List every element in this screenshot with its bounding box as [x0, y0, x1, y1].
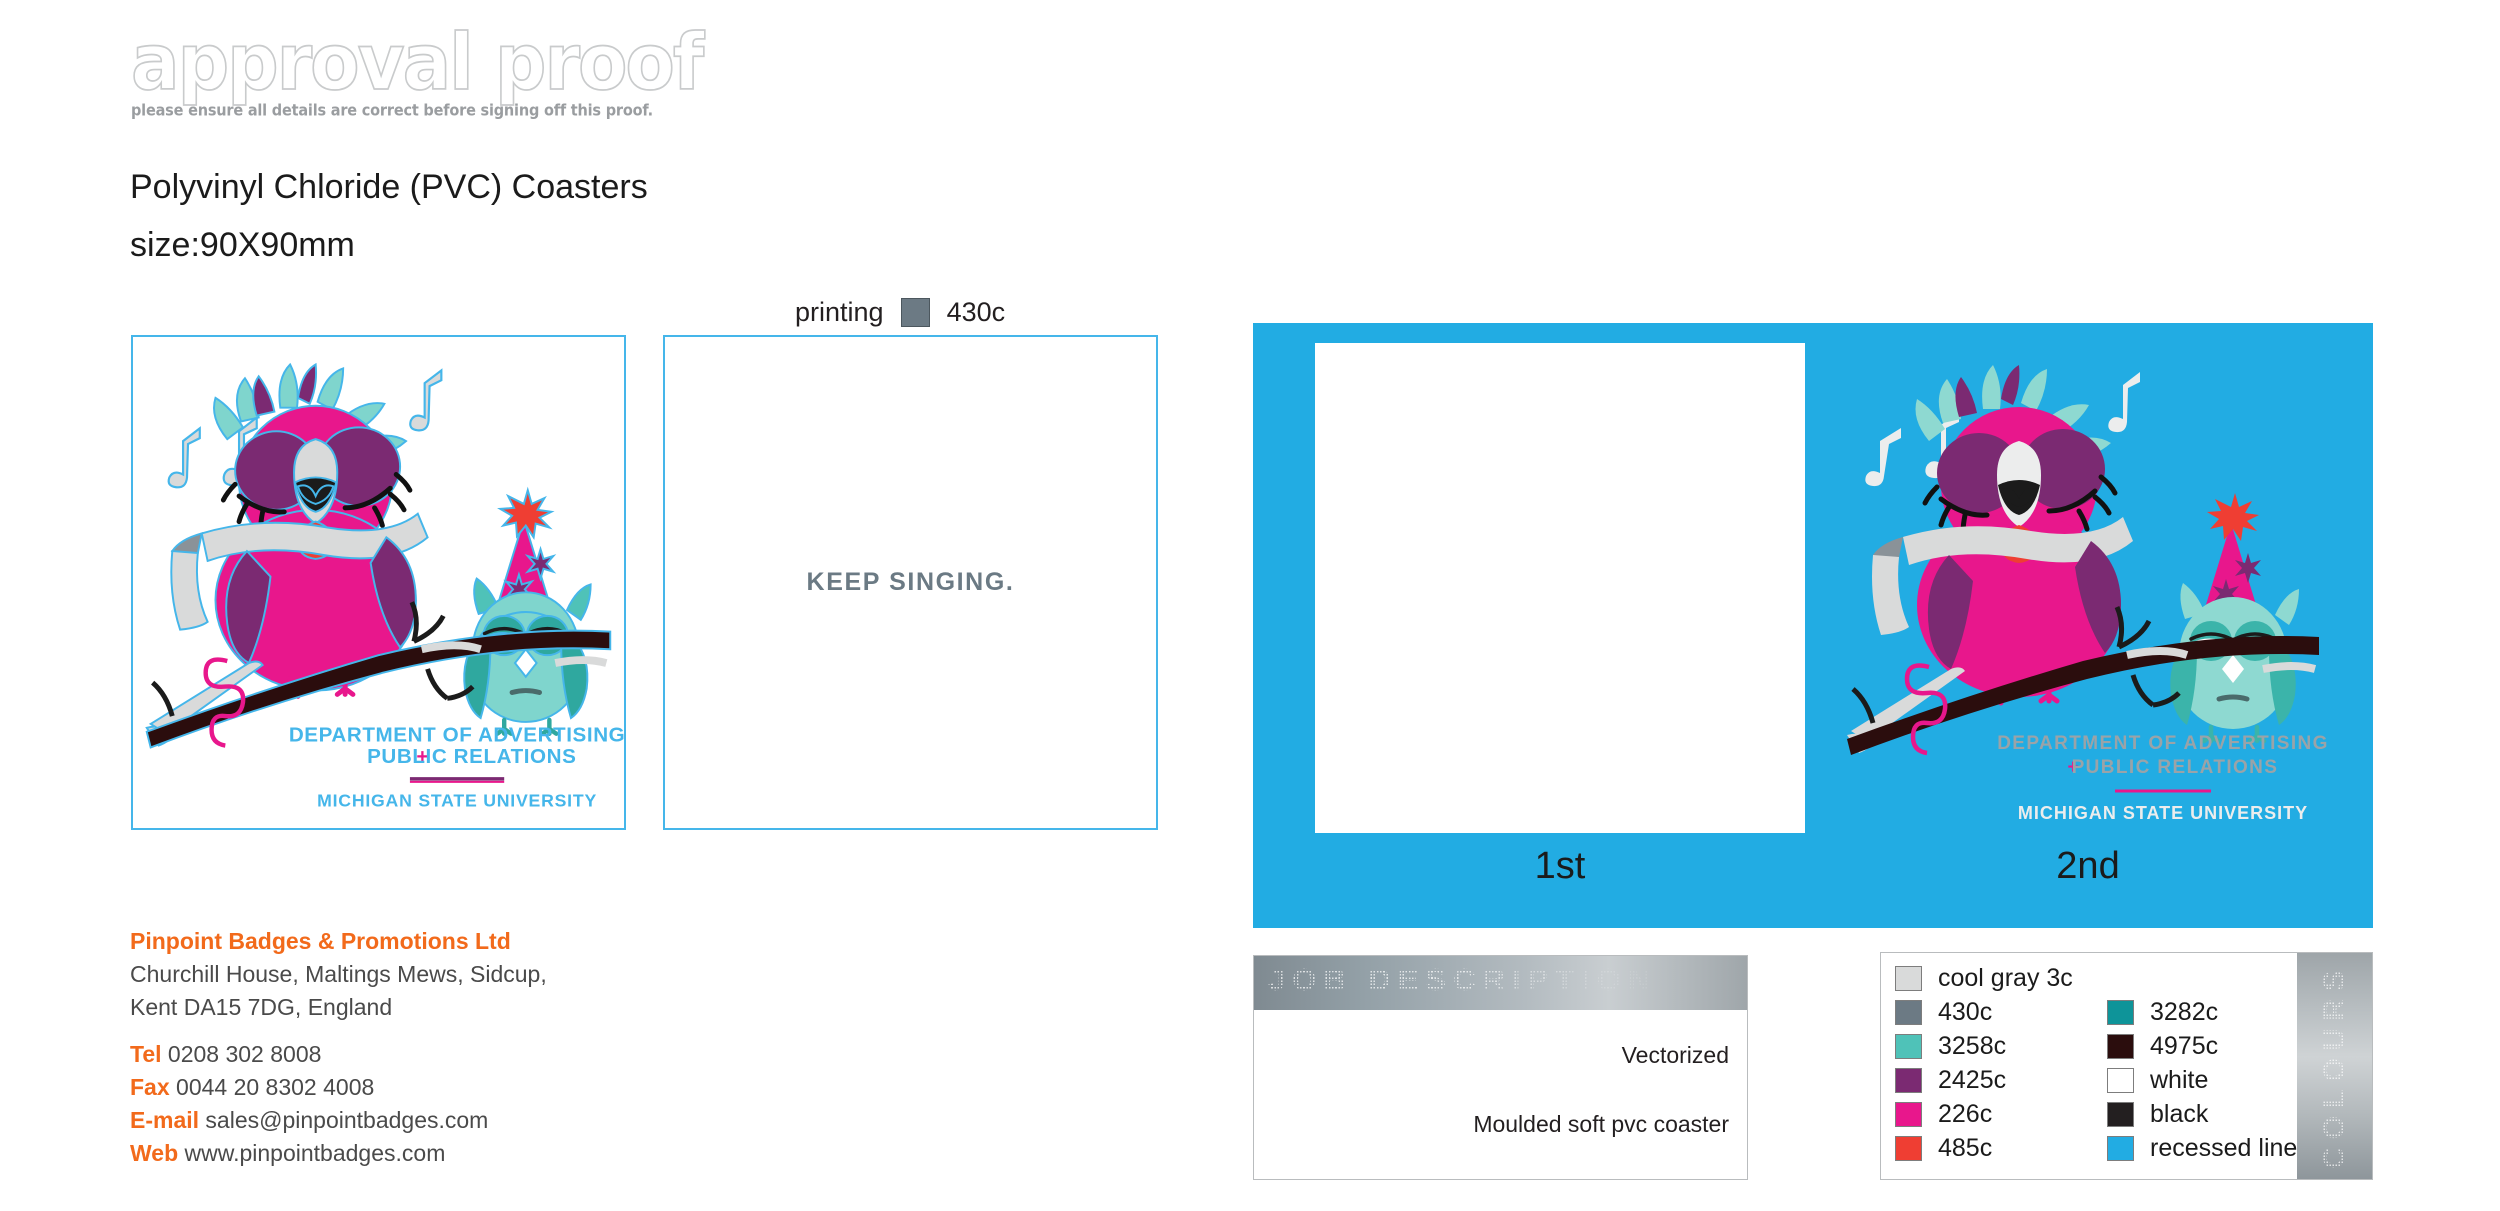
contact-fax-key: Fax: [130, 1074, 170, 1100]
pink-singing-owl: [1872, 365, 2133, 703]
approval-proof-subline: please ensure all details are correct be…: [131, 102, 691, 120]
job-description-line-1: Vectorized: [1254, 1042, 1747, 1069]
printing-label: printing: [795, 297, 884, 328]
colour-swatch: [1895, 1000, 1922, 1025]
colours-side-tab-text: COLOURS: [2318, 963, 2352, 1169]
approval-proof-wordmark: approval proof: [131, 22, 691, 102]
owls-artwork-blue: DEPARTMENT OF ADVERTISING + PUBLIC RELAT…: [1823, 343, 2353, 833]
colour-row: 485c: [1895, 1131, 2107, 1165]
colour-swatch: [1895, 966, 1922, 991]
colour-swatch: [2107, 1068, 2134, 1093]
colour-row: 226c: [1895, 1097, 2107, 1131]
colour-swatch: [1895, 1068, 1922, 1093]
colour-row: recessed line: [2107, 1131, 2297, 1165]
artwork-preview-panel[interactable]: DEPARTMENT OF ADVERTISING + PUBLIC RELAT…: [131, 335, 626, 830]
colours-list: cool gray 3c 430c 3258c 2425c 226c 485c: [1881, 953, 2297, 1179]
owls-artwork-white: DEPARTMENT OF ADVERTISING + PUBLIC RELAT…: [133, 337, 624, 828]
colour-swatch: [1895, 1034, 1922, 1059]
mockup-second-side[interactable]: DEPARTMENT OF ADVERTISING + PUBLIC RELAT…: [1823, 343, 2353, 833]
colour-name: 2425c: [1938, 1066, 2006, 1095]
colour-name: white: [2150, 1066, 2208, 1095]
mockup-board[interactable]: DEPARTMENT OF ADVERTISING + PUBLIC RELAT…: [1253, 323, 2373, 928]
company-name: Pinpoint Badges & Promotions Ltd: [130, 925, 547, 958]
colour-swatch: [1895, 1102, 1922, 1127]
contact-web-row[interactable]: Web www.pinpointbadges.com: [130, 1137, 547, 1170]
teal-party-owl: [464, 490, 590, 734]
colour-name: 226c: [1938, 1100, 1992, 1129]
company-address-line-2: Kent DA15 7DG, England: [130, 991, 547, 1024]
artwork-logo-line3: MICHIGAN STATE UNIVERSITY: [317, 790, 597, 810]
contact-tel-row: Tel 0208 302 8008: [130, 1038, 547, 1071]
contact-tel-value: 0208 302 8008: [168, 1041, 322, 1067]
colour-row: 4975c: [2107, 1029, 2297, 1063]
approval-proof-header: approval proof please ensure all details…: [131, 22, 691, 132]
mockup-label-second: 2nd: [1823, 845, 2353, 888]
contact-web-value[interactable]: www.pinpointbadges.com: [185, 1140, 446, 1166]
teal-party-owl: [2170, 493, 2299, 741]
colour-swatch: [2107, 1034, 2134, 1059]
colour-name: 485c: [1938, 1134, 1992, 1163]
colour-row: cool gray 3c: [1895, 961, 2107, 995]
colours-side-tab: COLOURS: [2297, 953, 2372, 1179]
colour-row: black: [2107, 1097, 2297, 1131]
colour-row: white: [2107, 1063, 2297, 1097]
colour-swatch: [2107, 1000, 2134, 1025]
printing-color-code: 430c: [947, 297, 1006, 328]
pink-singing-owl: [171, 364, 427, 696]
colours-column-left: cool gray 3c 430c 3258c 2425c 226c 485c: [1895, 961, 2107, 1179]
job-description-box: JOB DESCRIPTION Vectorized Moulded soft …: [1253, 955, 1748, 1180]
job-description-header-bar: JOB DESCRIPTION: [1254, 956, 1747, 1010]
colour-row: 3258c: [1895, 1029, 2107, 1063]
job-description-line-2: Moulded soft pvc coaster: [1254, 1111, 1747, 1138]
colour-name: 3282c: [2150, 998, 2218, 1027]
job-size-text: size:90X90mm: [130, 226, 355, 265]
printing-color-swatch: [901, 298, 930, 327]
colour-name: black: [2150, 1100, 2208, 1129]
colour-swatch: [2107, 1136, 2134, 1161]
text-preview-panel[interactable]: KEEP SINGING.: [663, 335, 1158, 830]
contact-email-value[interactable]: sales@pinpointbadges.com: [205, 1107, 488, 1133]
colour-row: 2425c: [1895, 1063, 2107, 1097]
mockup-label-first: 1st: [1315, 845, 1805, 888]
contact-email-key: E-mail: [130, 1107, 199, 1133]
contact-email-row[interactable]: E-mail sales@pinpointbadges.com: [130, 1104, 547, 1137]
colour-name: 4975c: [2150, 1032, 2218, 1061]
colour-name: recessed line: [2150, 1134, 2297, 1163]
keep-singing-text: KEEP SINGING.: [665, 337, 1156, 828]
company-address-line-1: Churchill House, Maltings Mews, Sidcup,: [130, 958, 547, 991]
artwork-logo-line1: DEPARTMENT OF ADVERTISING: [289, 724, 624, 747]
contact-tel-key: Tel: [130, 1041, 162, 1067]
artwork-logo-line1: DEPARTMENT OF ADVERTISING: [1997, 733, 2329, 754]
page-title: Polyvinyl Chloride (PVC) Coasters: [130, 168, 648, 207]
job-description-header-text: JOB DESCRIPTION: [1268, 962, 1657, 998]
colours-column-right: 3282c 4975c white black recessed line: [2107, 961, 2297, 1179]
printing-spec-row: printing 430c: [795, 297, 1005, 328]
contact-web-key: Web: [130, 1140, 178, 1166]
colour-name: 430c: [1938, 998, 1992, 1027]
artwork-logo-line3: MICHIGAN STATE UNIVERSITY: [2018, 803, 2308, 823]
artwork-logo-lockup: DEPARTMENT OF ADVERTISING + PUBLIC RELAT…: [1997, 733, 2329, 823]
colour-row: 3282c: [2107, 995, 2297, 1029]
colour-name: cool gray 3c: [1938, 964, 2073, 993]
colour-name: 3258c: [1938, 1032, 2006, 1061]
contact-block: Pinpoint Badges & Promotions Ltd Churchi…: [130, 925, 547, 1170]
colour-swatch: [1895, 1136, 1922, 1161]
contact-fax-value: 0044 20 8302 4008: [176, 1074, 374, 1100]
artwork-logo-line2: PUBLIC RELATIONS: [367, 745, 576, 768]
mockup-first-side[interactable]: [1315, 343, 1805, 833]
colour-row: 430c: [1895, 995, 2107, 1029]
contact-fax-row: Fax 0044 20 8302 4008: [130, 1071, 547, 1104]
artwork-logo-lockup: DEPARTMENT OF ADVERTISING + PUBLIC RELAT…: [289, 724, 624, 811]
colours-box: cool gray 3c 430c 3258c 2425c 226c 485c: [1880, 952, 2373, 1180]
artwork-logo-line2: PUBLIC RELATIONS: [2072, 757, 2279, 778]
colour-swatch: [2107, 1102, 2134, 1127]
